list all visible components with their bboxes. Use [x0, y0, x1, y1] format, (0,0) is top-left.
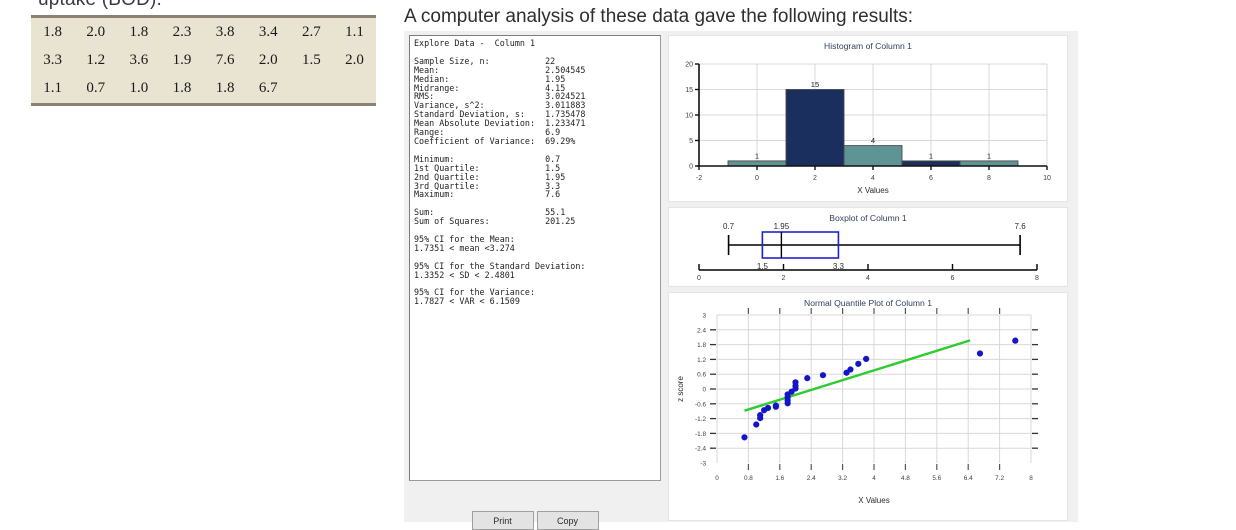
- qqplot-point[interactable]: [863, 356, 869, 362]
- x-axis-tick-label: 4: [871, 175, 875, 182]
- statdisk-window: Explore Data - Column 1 Sample Size, n: …: [404, 31, 1078, 522]
- x-axis-tick-label: 0: [755, 175, 759, 182]
- boxplot-min-label: 0.7: [723, 222, 735, 231]
- table-cell: 2.0: [74, 18, 117, 46]
- data-table-body: 1.82.01.82.33.83.42.71.13.31.23.61.97.62…: [31, 18, 376, 103]
- qqplot-y-axis-label: z score: [676, 376, 685, 402]
- table-cell: 6.7: [247, 75, 290, 103]
- qqplot-point[interactable]: [792, 379, 798, 385]
- qqplot-point[interactable]: [847, 366, 853, 372]
- x-axis-tick-label: 6.4: [964, 475, 973, 482]
- table-cell: [290, 75, 333, 103]
- histogram-bar[interactable]: [844, 146, 902, 166]
- boxplot-title: Boxplot of Column 1: [669, 213, 1067, 223]
- y-axis-tick-label: 0.6: [697, 372, 706, 379]
- table-cell: 3.3: [31, 46, 74, 74]
- table-cell: 3.4: [247, 18, 290, 46]
- table-cell: 3.6: [117, 46, 160, 74]
- normal-quantile-plot-card: Normal Quantile Plot of Column 1 -3-2.4-…: [668, 292, 1068, 521]
- x-axis-tick-label: 5.6: [932, 475, 941, 482]
- y-axis-tick-label: -2.4: [695, 446, 706, 453]
- qqplot-point[interactable]: [820, 372, 826, 378]
- histogram-bar-label: 1: [987, 151, 991, 160]
- boxplot-median-label: 1.95: [774, 222, 790, 231]
- qqplot-point[interactable]: [757, 412, 763, 418]
- table-row: 3.31.23.61.97.62.01.52.0: [31, 46, 376, 74]
- x-axis-tick-label: 3.2: [838, 475, 847, 482]
- histogram-bar-label: 1: [929, 151, 933, 160]
- data-values-table: 1.82.01.82.33.83.42.71.13.31.23.61.97.62…: [31, 15, 376, 106]
- x-axis-tick-label: 6: [929, 175, 933, 182]
- x-axis-tick-label: 1.6: [775, 475, 784, 482]
- qqplot-point[interactable]: [765, 405, 771, 411]
- boxplot-axis-tick-label: 4: [866, 275, 870, 282]
- copy-button[interactable]: Copy: [537, 511, 599, 530]
- table-cell: 0.7: [74, 75, 117, 103]
- x-axis-tick-label: 4: [872, 475, 876, 482]
- qqplot-x-axis-label: X Values: [858, 496, 889, 505]
- x-axis-tick-label: 8: [1029, 475, 1033, 482]
- x-axis-tick-label: 2: [813, 175, 817, 182]
- y-axis-tick-label: 15: [685, 87, 693, 94]
- x-axis-tick-label: 0.8: [744, 475, 753, 482]
- histogram-title: Histogram of Column 1: [669, 41, 1067, 51]
- qqplot-point[interactable]: [804, 375, 810, 381]
- x-axis-tick-label: 7.2: [995, 475, 1004, 482]
- histogram-x-axis-label: X Values: [857, 186, 888, 195]
- y-axis-tick-label: 20: [685, 62, 693, 69]
- table-cell: 2.3: [160, 18, 203, 46]
- page-title: A computer analysis of these data gave t…: [404, 6, 913, 28]
- qqplot-point[interactable]: [753, 421, 759, 427]
- results-output-textarea[interactable]: Explore Data - Column 1 Sample Size, n: …: [409, 35, 661, 481]
- qqplot-point[interactable]: [773, 402, 779, 408]
- table-cell: 7.6: [204, 46, 247, 74]
- boxplot-axis-tick-label: 6: [951, 275, 955, 282]
- y-axis-tick-label: 5: [689, 138, 693, 145]
- x-axis-tick-label: 0: [715, 475, 719, 482]
- y-axis-tick-label: -3: [700, 461, 706, 468]
- results-pane: Explore Data - Column 1 Sample Size, n: …: [404, 31, 666, 522]
- table-cell: 1.0: [117, 75, 160, 103]
- table-cell: [333, 75, 376, 103]
- histogram-bar[interactable]: [786, 90, 844, 167]
- table-cell: 3.8: [204, 18, 247, 46]
- y-axis-tick-label: 1.2: [697, 357, 706, 364]
- x-axis-tick-label: 8: [987, 175, 991, 182]
- table-cell: 2.7: [290, 18, 333, 46]
- y-axis-tick-label: -0.6: [695, 401, 706, 408]
- x-axis-tick-label: 4.8: [901, 475, 910, 482]
- qqplot-title: Normal Quantile Plot of Column 1: [669, 298, 1067, 308]
- table-cell: 1.1: [333, 18, 376, 46]
- qqplot-point[interactable]: [741, 434, 747, 440]
- boxplot-card: Boxplot of Column 1 0.71.957.61.53.30246…: [668, 207, 1068, 287]
- table-cell: 1.8: [204, 75, 247, 103]
- charts-column: Histogram of Column 1 11541105101520-202…: [666, 31, 1078, 522]
- histogram-card: Histogram of Column 1 11541105101520-202…: [668, 35, 1068, 202]
- table-row: 1.82.01.82.33.83.42.71.1: [31, 18, 376, 46]
- boxplot-axis-tick-label: 8: [1035, 275, 1039, 282]
- y-axis-tick-label: 2.4: [697, 327, 706, 334]
- y-axis-tick-label: 3: [702, 313, 706, 320]
- boxplot-max-label: 7.6: [1015, 222, 1027, 231]
- x-axis-tick-label: 2.4: [807, 475, 816, 482]
- histogram-svg: 11541105101520-20246810X Values: [669, 36, 1059, 201]
- table-cell: 1.5: [290, 46, 333, 74]
- qqplot-point[interactable]: [855, 361, 861, 367]
- boxplot-axis-tick-label: 2: [782, 275, 786, 282]
- normal-quantile-plot-svg: -3-2.4-1.8-1.2-0.600.61.21.82.4300.81.62…: [669, 293, 1059, 520]
- table-cell: 2.0: [247, 46, 290, 74]
- results-button-row: Print Copy: [409, 511, 661, 530]
- histogram-bar-label: 15: [811, 80, 819, 89]
- y-axis-tick-label: -1.2: [695, 416, 706, 423]
- cutoff-heading: uptake (BOD).: [38, 0, 162, 11]
- qqplot-point[interactable]: [977, 350, 983, 356]
- histogram-bar-label: 4: [871, 136, 875, 145]
- boxplot-axis-tick-label: 0: [697, 275, 701, 282]
- table-row: 1.10.71.01.81.86.7: [31, 75, 376, 103]
- table-cell: 1.9: [160, 46, 203, 74]
- table-cell: 2.0: [333, 46, 376, 74]
- table-cell: 1.2: [74, 46, 117, 74]
- table-cell: 1.8: [160, 75, 203, 103]
- y-axis-tick-label: 1.8: [697, 342, 706, 349]
- y-axis-tick-label: -1.8: [695, 431, 706, 438]
- y-axis-tick-label: 10: [685, 113, 693, 120]
- y-axis-tick-label: 0: [689, 164, 693, 171]
- x-axis-tick-label: -2: [696, 175, 702, 182]
- table-cell: 1.8: [117, 18, 160, 46]
- print-button[interactable]: Print: [472, 511, 534, 530]
- qqplot-point[interactable]: [1012, 338, 1018, 344]
- data-table: 1.82.01.82.33.83.42.71.13.31.23.61.97.62…: [31, 18, 376, 103]
- y-axis-tick-label: 0: [702, 387, 706, 394]
- x-axis-tick-label: 10: [1043, 175, 1051, 182]
- histogram-bar-label: 1: [755, 151, 759, 160]
- table-cell: 1.1: [31, 75, 74, 103]
- table-cell: 1.8: [31, 18, 74, 46]
